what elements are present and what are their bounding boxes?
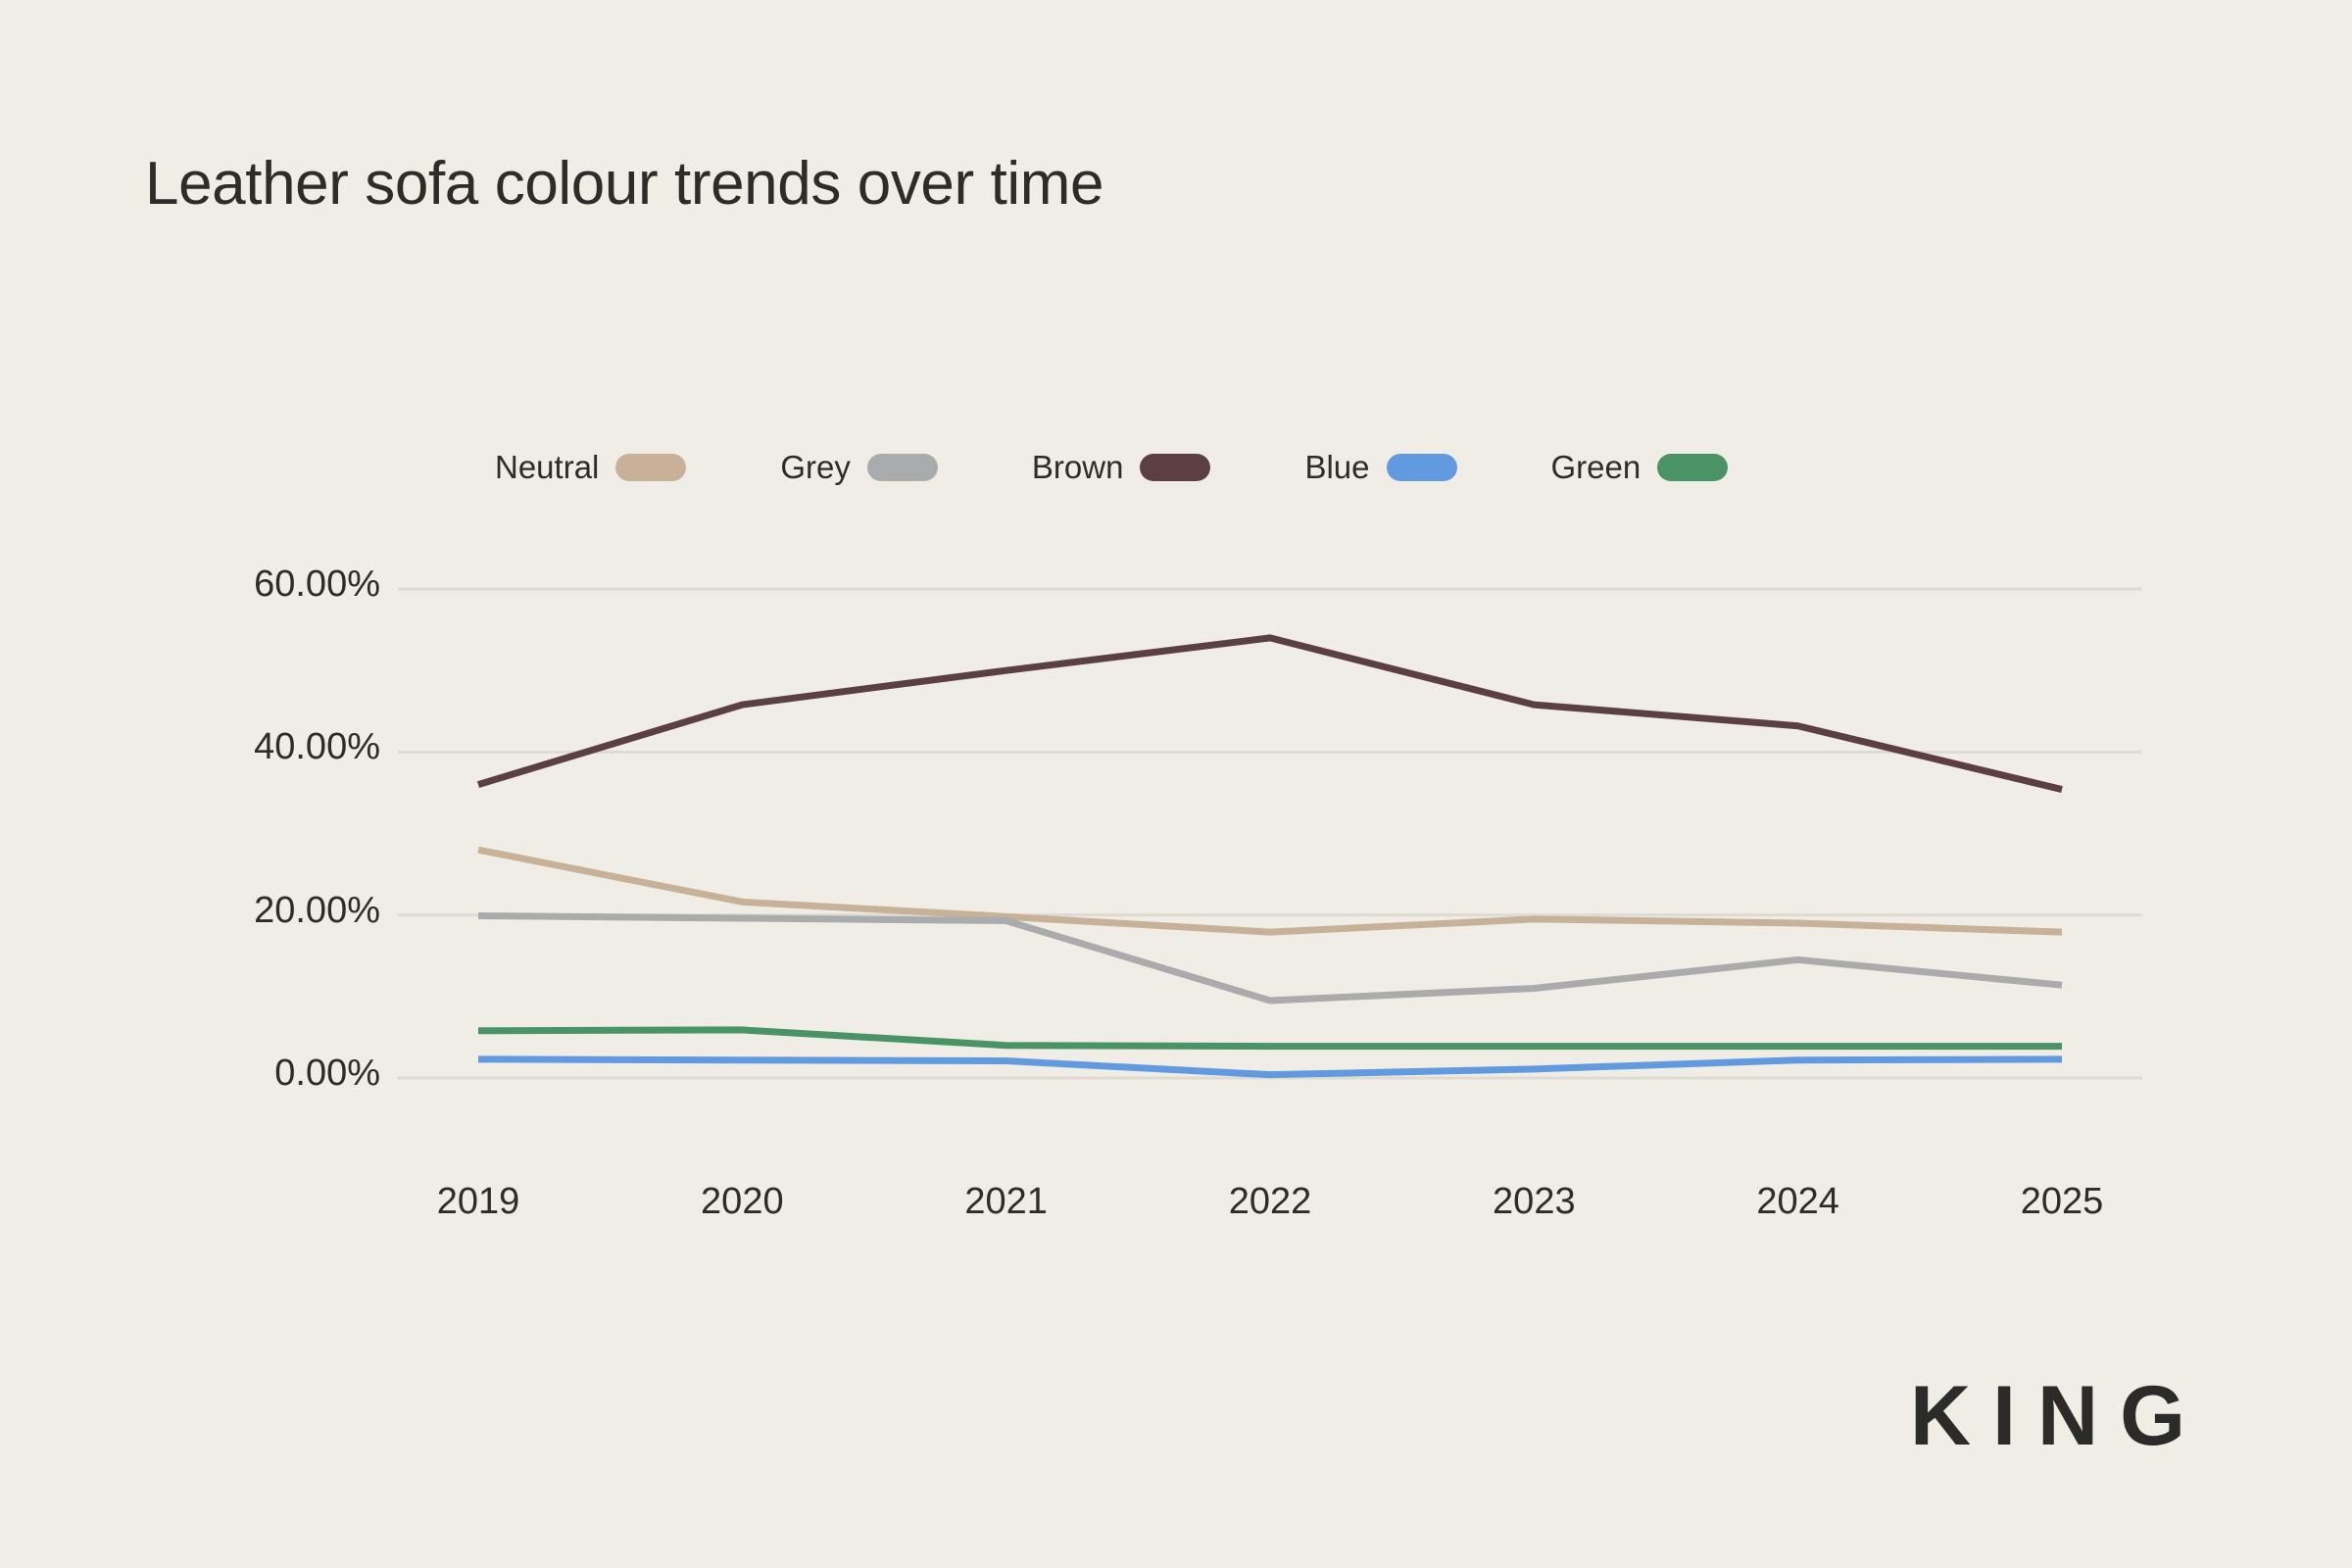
y-axis-tick-label: 20.00% (145, 890, 380, 932)
y-axis-tick-label: 0.00% (145, 1053, 380, 1095)
x-axis-tick-label: 2020 (644, 1181, 840, 1223)
x-axis-tick-label: 2023 (1436, 1181, 1632, 1223)
y-axis-tick-label: 60.00% (145, 563, 380, 606)
gridlines (398, 589, 2142, 1078)
x-axis-tick-label: 2022 (1172, 1181, 1368, 1223)
brand-logo: KING (1910, 1368, 2207, 1465)
x-axis-tick-label: 2021 (908, 1181, 1104, 1223)
series-line-blue[interactable] (478, 1059, 2062, 1075)
y-axis-tick-label: 40.00% (145, 726, 380, 768)
chart-card: Leather sofa colour trends over time Neu… (0, 0, 2352, 1568)
series-line-brown[interactable] (478, 638, 2062, 790)
line-chart-svg (0, 0, 2352, 1568)
x-axis-tick-label: 2024 (1700, 1181, 1896, 1223)
series-lines (478, 638, 2062, 1075)
plot-area: 0.00%20.00%40.00%60.00% 2019202020212022… (0, 0, 2352, 1568)
series-line-grey[interactable] (478, 915, 2062, 1000)
series-line-green[interactable] (478, 1030, 2062, 1047)
x-axis-tick-label: 2025 (1964, 1181, 2160, 1223)
x-axis-tick-label: 2019 (380, 1181, 576, 1223)
